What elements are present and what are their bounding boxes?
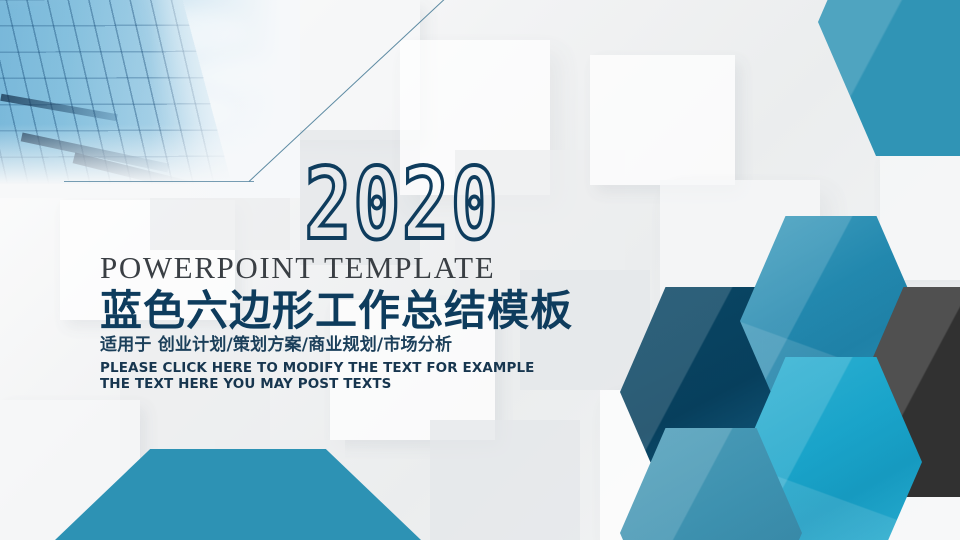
year-headline: 2020 <box>196 160 609 250</box>
page-title: 蓝色六边形工作总结模板 <box>100 288 660 333</box>
title-text-block: 2020 POWERPOINT TEMPLATE 蓝色六边形工作总结模板 适用于… <box>100 160 660 393</box>
subtitle-usage-scenarios: 适用于 创业计划/策划方案/商业规划/市场分析 <box>100 336 660 356</box>
slide-canvas: 2020 POWERPOINT TEMPLATE 蓝色六边形工作总结模板 适用于… <box>0 0 960 540</box>
body-text-line-2: THE TEXT HERE YOU MAY POST TEXTS <box>100 377 660 393</box>
body-text-line-1: PLEASE CLICK HERE TO MODIFY THE TEXT FOR… <box>100 361 660 377</box>
